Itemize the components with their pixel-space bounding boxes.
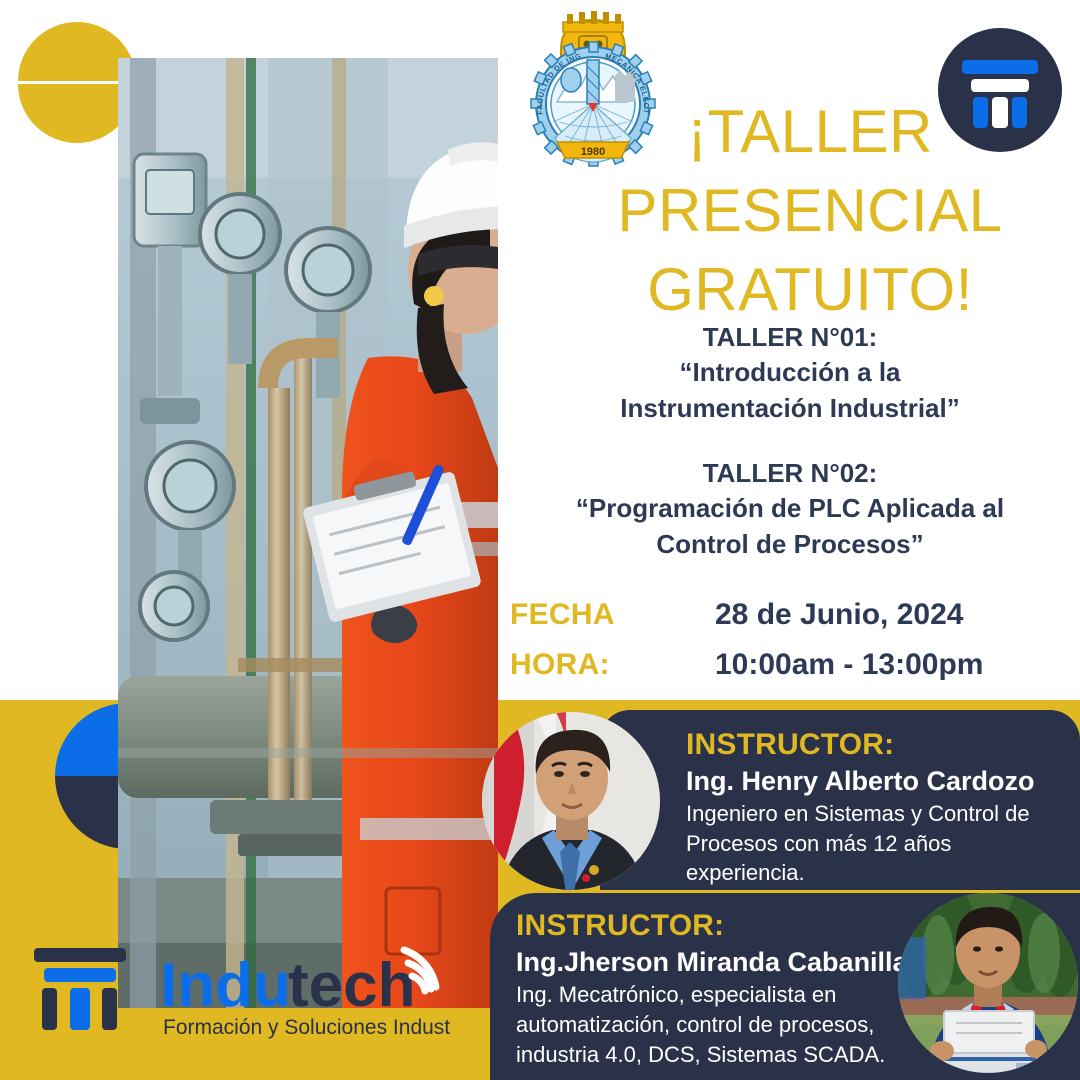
page-title: ¡TALLER PRESENCIAL GRATUITO!: [600, 92, 1020, 330]
workshop-1-number: TALLER N°01:: [510, 320, 1070, 355]
workshop-2-number: TALLER N°02:: [510, 456, 1070, 491]
headline-line-2: PRESENCIAL: [600, 171, 1020, 250]
instructor-1-desc-line-2: Procesos con más 12 años experiencia.: [686, 829, 1058, 887]
hour-value: 10:00am - 13:00pm: [715, 648, 983, 682]
brand-name-part-1: Indu: [160, 951, 291, 1020]
date-label: FECHA: [510, 598, 715, 632]
instructor-2-role: INSTRUCTOR:: [516, 909, 890, 943]
instructor-photo-jherson-miranda: [898, 893, 1078, 1073]
instructor-2-desc-line-3: industria 4.0, DCS, Sistemas SCADA.: [516, 1040, 890, 1069]
industrial-instrumentation-technician-photo: [118, 58, 498, 1008]
instructor-2-desc-line-2: automatización, control de procesos,: [516, 1010, 890, 1039]
headline-line-3: GRATUITO!: [600, 250, 1020, 329]
workshop-item-2: TALLER N°02: “Programación de PLC Aplica…: [510, 456, 1070, 562]
poster-root: 1980 FACULTAD DE INGENIERIA MECANICA ELE…: [0, 0, 1080, 1080]
event-details: FECHA 28 de Junio, 2024 HORA: 10:00am - …: [510, 598, 1070, 698]
workshop-item-1: TALLER N°01: “Introducción a la Instrume…: [510, 320, 1070, 426]
instructor-card-1: INSTRUCTOR: Ing. Henry Alberto Cardozo I…: [600, 710, 1080, 890]
event-hour-row: HORA: 10:00am - 13:00pm: [510, 648, 1070, 682]
indutech-pillars-icon: [34, 948, 126, 1030]
instructor-2-name: Ing.Jherson Miranda Cabanillas: [516, 945, 890, 980]
workshop-2-title-line-1: “Programación de PLC Aplicada al: [510, 491, 1070, 526]
workshop-1-title-line-2: Instrumentación Industrial”: [510, 391, 1070, 426]
headline-line-1: ¡TALLER: [600, 92, 1020, 171]
instructor-1-name: Ing. Henry Alberto Cardozo: [686, 764, 1058, 799]
hour-label: HORA:: [510, 648, 715, 682]
instructor-2-desc-line-1: Ing. Mecatrónico, especialista en: [516, 980, 890, 1009]
brand-name-part-2: tech: [288, 951, 415, 1020]
workshop-1-title-line-1: “Introducción a la: [510, 355, 1070, 390]
instructor-1-role: INSTRUCTOR:: [686, 728, 1058, 762]
brand-tagline: Formación y Soluciones Industriales: [163, 1016, 450, 1039]
event-date-row: FECHA 28 de Junio, 2024: [510, 598, 1070, 632]
workshop-2-title-line-2: Control de Procesos”: [510, 527, 1070, 562]
date-value: 28 de Junio, 2024: [715, 598, 963, 632]
instructor-photo-henry-cardozo: [482, 712, 660, 890]
workshop-list: TALLER N°01: “Introducción a la Instrume…: [510, 320, 1070, 562]
indutech-brand-logo: Indu tech Formación y Soluciones Industr…: [30, 938, 450, 1043]
instructor-1-desc-line-1: Ingeniero en Sistemas y Control de: [686, 799, 1058, 828]
